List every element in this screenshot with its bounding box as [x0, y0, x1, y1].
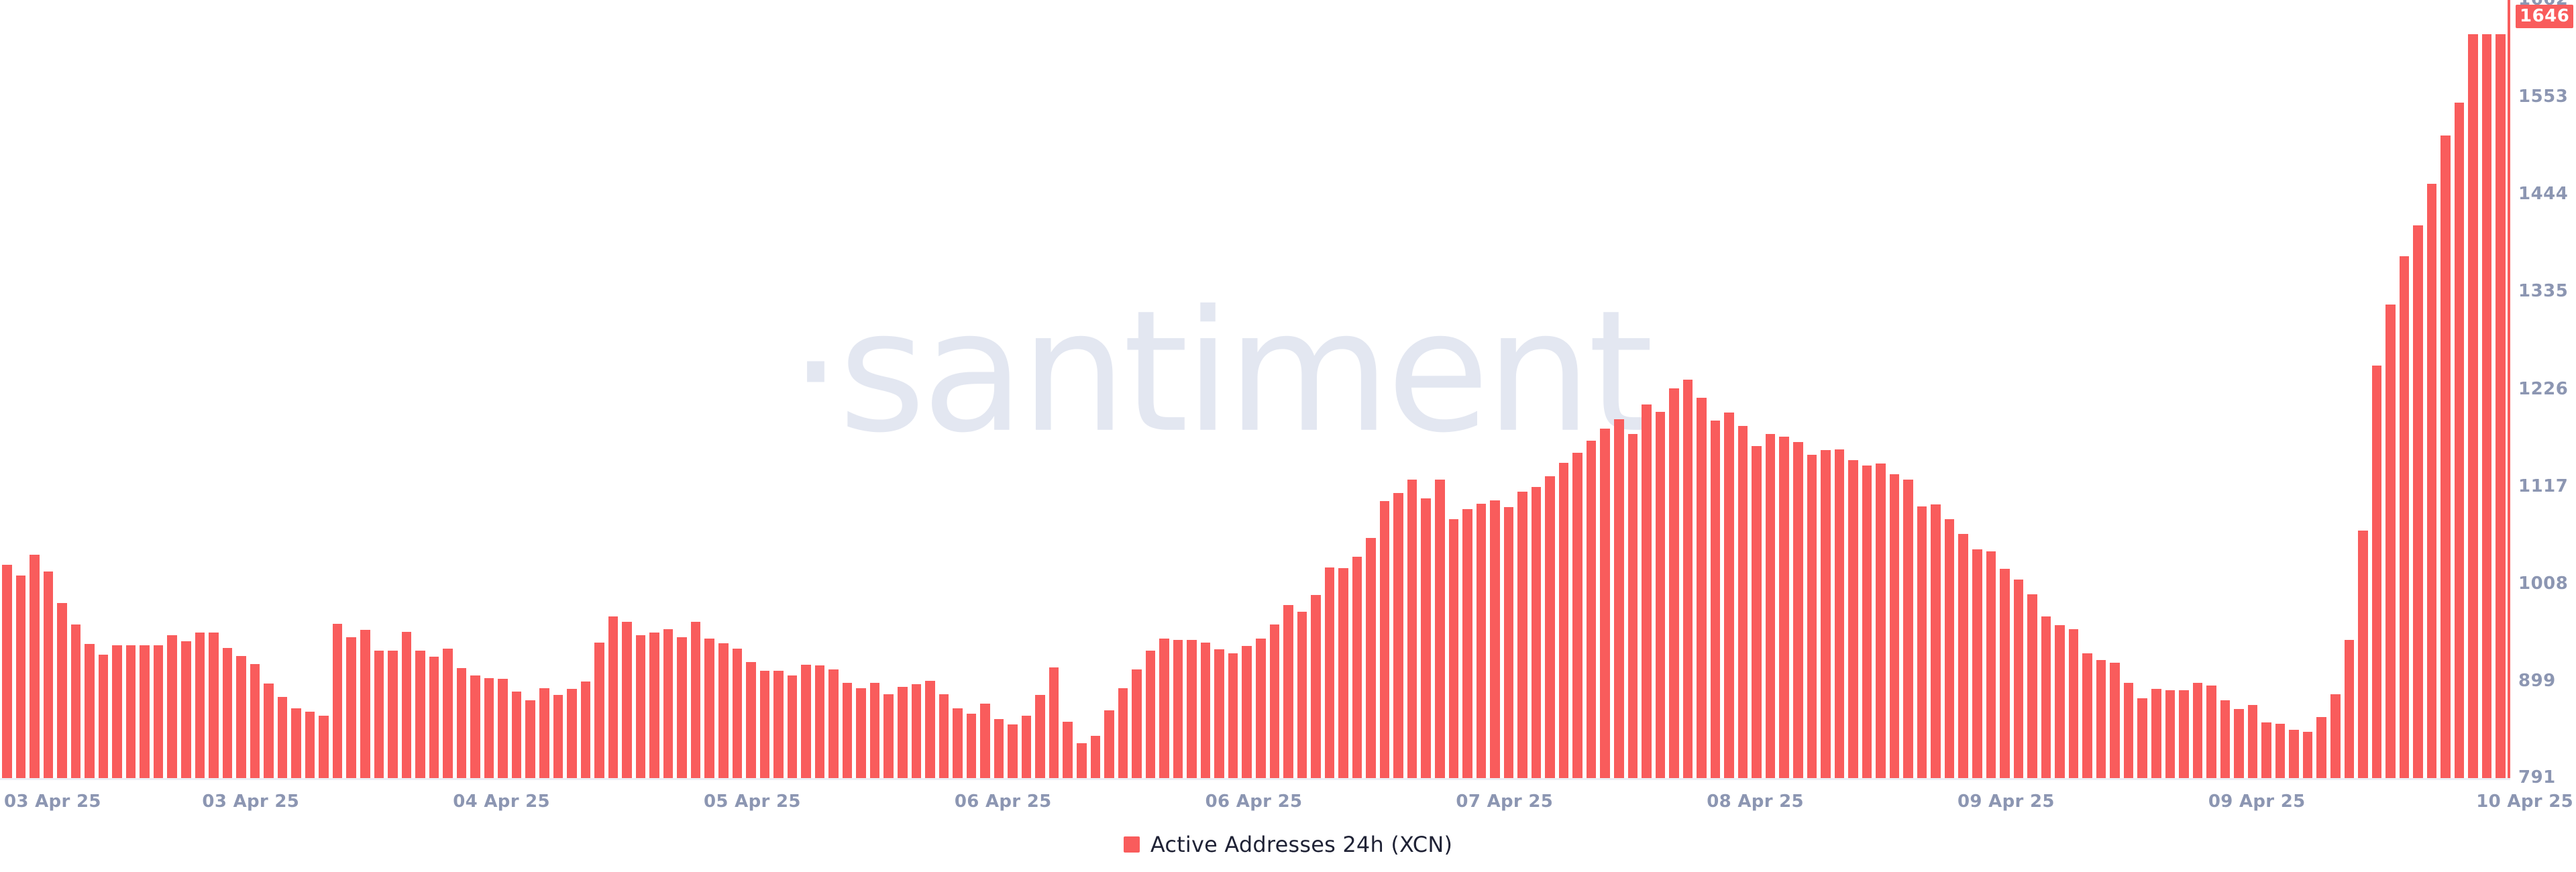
bar[interactable]	[1724, 413, 1734, 778]
bar-series-active-addresses	[0, 0, 2508, 778]
bar[interactable]	[1572, 453, 1582, 778]
bar[interactable]	[677, 637, 687, 778]
bar[interactable]	[1462, 509, 1472, 778]
bar[interactable]	[1352, 557, 1362, 778]
bar[interactable]	[1283, 605, 1293, 778]
bar[interactable]	[1449, 519, 1459, 778]
bar[interactable]	[1256, 639, 1266, 778]
x-axis-tick-label: 03 Apr 25	[202, 792, 299, 812]
bar[interactable]	[567, 689, 577, 778]
bar[interactable]	[1807, 455, 1817, 778]
bar[interactable]	[1711, 421, 1721, 778]
bar[interactable]	[1600, 429, 1610, 778]
bar[interactable]	[140, 645, 150, 778]
bar[interactable]	[1669, 388, 1679, 778]
current-value-badge: 1646	[2516, 5, 2573, 28]
bar[interactable]	[691, 622, 701, 778]
bar[interactable]	[470, 675, 480, 778]
bar[interactable]	[71, 624, 81, 778]
bar[interactable]	[1173, 640, 1183, 778]
bar[interactable]	[1890, 474, 1900, 778]
bar[interactable]	[1270, 624, 1280, 778]
bar[interactable]	[1821, 450, 1831, 778]
bar[interactable]	[1214, 649, 1224, 778]
bar[interactable]	[2372, 366, 2382, 778]
bar[interactable]	[2096, 660, 2106, 778]
bar[interactable]	[2000, 569, 2010, 778]
bar[interactable]	[1587, 441, 1597, 778]
bar[interactable]	[1311, 595, 1321, 778]
bar[interactable]	[525, 700, 535, 778]
bar[interactable]	[1986, 551, 1996, 778]
bar[interactable]	[773, 671, 784, 778]
bar[interactable]	[2151, 689, 2161, 778]
bar[interactable]	[2385, 305, 2396, 778]
bar[interactable]	[374, 651, 384, 778]
bar[interactable]	[636, 635, 646, 778]
bar[interactable]	[622, 622, 632, 778]
bar[interactable]	[1862, 466, 1872, 778]
x-axis-tick-label: 07 Apr 25	[1456, 792, 1553, 812]
chart-root: ·santiment 79189910081117122613351444155…	[0, 0, 2576, 872]
bar[interactable]	[1421, 498, 1431, 778]
bar[interactable]	[994, 719, 1004, 778]
bar[interactable]	[2027, 594, 2037, 778]
bar[interactable]	[2124, 683, 2134, 779]
bar[interactable]	[2069, 629, 2079, 778]
bar[interactable]	[980, 704, 990, 778]
bar[interactable]	[2316, 717, 2326, 778]
bar[interactable]	[154, 645, 164, 778]
bar[interactable]	[1931, 504, 1941, 778]
bar[interactable]	[828, 669, 839, 778]
bar[interactable]	[402, 632, 412, 778]
bar[interactable]	[1049, 667, 1059, 778]
bar[interactable]	[2082, 653, 2092, 778]
bar[interactable]	[2206, 686, 2216, 779]
bar[interactable]	[2055, 625, 2065, 778]
bar[interactable]	[594, 643, 604, 778]
x-axis-tick-labels: 03 Apr 2503 Apr 2504 Apr 2505 Apr 2506 A…	[0, 792, 2576, 818]
bar[interactable]	[195, 633, 205, 778]
x-axis-tick-label: 10 Apr 25	[2476, 792, 2573, 812]
bar[interactable]	[457, 668, 467, 778]
bar[interactable]	[883, 694, 894, 778]
bar[interactable]	[1628, 434, 1638, 778]
bar[interactable]	[305, 712, 315, 778]
bar[interactable]	[939, 694, 949, 778]
bar[interactable]	[2289, 730, 2299, 778]
bar[interactable]	[319, 716, 329, 778]
x-axis-line	[0, 778, 2510, 780]
bar[interactable]	[801, 665, 811, 778]
bar[interactable]	[718, 643, 729, 778]
bar[interactable]	[1917, 506, 1927, 778]
bar[interactable]	[2234, 709, 2244, 778]
bar[interactable]	[1504, 507, 1514, 778]
bar[interactable]	[498, 679, 508, 778]
bar[interactable]	[2248, 705, 2258, 778]
y-axis-tick-label: 791	[2518, 767, 2556, 787]
bar[interactable]	[209, 633, 219, 778]
bar[interactable]	[1972, 549, 1982, 778]
bar[interactable]	[539, 688, 549, 779]
bar[interactable]	[250, 664, 260, 778]
bar[interactable]	[1118, 688, 1128, 779]
bar[interactable]	[112, 645, 122, 778]
bar[interactable]	[429, 657, 439, 778]
bar[interactable]	[181, 641, 191, 778]
bar[interactable]	[1945, 519, 1955, 778]
bar[interactable]	[1242, 646, 1252, 778]
bar[interactable]	[663, 629, 674, 778]
bar[interactable]	[870, 683, 880, 779]
bar[interactable]	[2358, 531, 2368, 778]
bar[interactable]	[236, 656, 246, 778]
legend-color-swatch	[1124, 836, 1140, 853]
y-axis-line	[2508, 0, 2510, 778]
bar[interactable]	[1766, 434, 1776, 778]
bar[interactable]	[16, 576, 26, 778]
bar[interactable]	[360, 630, 370, 778]
bar[interactable]	[388, 651, 398, 778]
bar[interactable]	[1407, 480, 1417, 778]
bar[interactable]	[167, 635, 177, 778]
y-axis-tick-label: 899	[2518, 671, 2556, 691]
bar[interactable]	[1077, 743, 1087, 778]
bar[interactable]	[223, 648, 233, 778]
bar[interactable]	[2165, 690, 2176, 778]
bar[interactable]	[1490, 500, 1500, 778]
y-axis-tick-label: 1117	[2518, 476, 2568, 496]
bar[interactable]	[415, 651, 425, 778]
bar[interactable]	[1228, 653, 1238, 778]
bar[interactable]	[346, 637, 356, 778]
legend-label: Active Addresses 24h (XCN)	[1150, 832, 1452, 857]
bar[interactable]	[291, 708, 301, 778]
bar[interactable]	[1338, 568, 1348, 778]
x-axis-tick-label: 06 Apr 25	[955, 792, 1052, 812]
y-axis-tick-label: 1008	[2518, 574, 2568, 594]
bar[interactable]	[1697, 398, 1707, 778]
bar[interactable]	[898, 687, 908, 778]
bar[interactable]	[2, 565, 12, 778]
bar[interactable]	[2110, 663, 2120, 778]
bar[interactable]	[649, 633, 659, 778]
bar[interactable]	[1325, 567, 1335, 778]
bar[interactable]	[2440, 135, 2451, 778]
bar[interactable]	[1187, 640, 1197, 778]
bar[interactable]	[126, 645, 136, 778]
bar[interactable]	[1132, 669, 1142, 778]
y-axis-tick-label: 1226	[2518, 379, 2568, 399]
bar[interactable]	[2330, 694, 2341, 778]
bar[interactable]	[278, 697, 288, 778]
bar[interactable]	[1559, 463, 1569, 778]
bar[interactable]	[1008, 724, 1018, 778]
bar[interactable]	[953, 708, 963, 778]
bar[interactable]	[1903, 480, 1913, 778]
bar[interactable]	[99, 655, 109, 778]
x-axis-tick-label: 03 Apr 25	[4, 792, 101, 812]
x-axis-tick-label: 06 Apr 25	[1205, 792, 1303, 812]
bar[interactable]	[85, 644, 95, 778]
bar[interactable]	[1297, 612, 1307, 778]
bar[interactable]	[1091, 736, 1101, 778]
bar[interactable]	[44, 571, 54, 778]
bar[interactable]	[1683, 380, 1693, 778]
bar[interactable]	[2041, 616, 2051, 778]
bar[interactable]	[443, 649, 453, 778]
x-axis-tick-label: 09 Apr 25	[1957, 792, 2055, 812]
bar[interactable]	[57, 603, 67, 778]
bar[interactable]	[912, 684, 922, 778]
bar[interactable]	[925, 681, 935, 778]
bar[interactable]	[1201, 643, 1211, 778]
plot-area: ·santiment	[0, 0, 2508, 778]
bar[interactable]	[1835, 449, 1845, 778]
y-axis-tick-label: 1553	[2518, 87, 2568, 107]
bar[interactable]	[788, 675, 798, 778]
bar[interactable]	[1848, 460, 1858, 778]
bar[interactable]	[2014, 580, 2024, 778]
bar[interactable]	[1532, 487, 1542, 778]
chart-legend[interactable]: Active Addresses 24h (XCN)	[0, 832, 2576, 857]
bar[interactable]	[1380, 501, 1390, 778]
bar[interactable]	[333, 624, 343, 778]
bar[interactable]	[581, 682, 591, 778]
bar[interactable]	[843, 683, 853, 779]
bar[interactable]	[2482, 34, 2492, 778]
bar[interactable]	[1366, 538, 1376, 778]
bar[interactable]	[1656, 412, 1666, 778]
bar[interactable]	[1435, 480, 1445, 778]
bar[interactable]	[1477, 504, 1487, 778]
bar[interactable]	[1793, 442, 1803, 778]
bar[interactable]	[2455, 103, 2465, 778]
bar[interactable]	[1876, 464, 1886, 778]
bar[interactable]	[1642, 404, 1652, 778]
bar[interactable]	[2137, 698, 2147, 778]
y-axis-tick-label: 1444	[2518, 184, 2568, 204]
bar[interactable]	[1393, 493, 1403, 778]
bar[interactable]	[1752, 446, 1762, 778]
y-axis-tick-label: 1335	[2518, 281, 2568, 301]
bar[interactable]	[512, 692, 522, 778]
bar[interactable]	[1958, 534, 1968, 778]
bar[interactable]	[1517, 492, 1527, 779]
bar[interactable]	[1104, 710, 1114, 778]
bar[interactable]	[484, 678, 494, 778]
bar[interactable]	[760, 671, 770, 778]
bar[interactable]	[553, 695, 563, 778]
bar[interactable]	[608, 616, 619, 778]
bar[interactable]	[2261, 722, 2271, 778]
bar[interactable]	[2413, 225, 2423, 778]
bar[interactable]	[1146, 651, 1156, 778]
bar[interactable]	[2275, 724, 2286, 778]
bar[interactable]	[1738, 426, 1748, 778]
bar[interactable]	[2468, 34, 2478, 778]
bar[interactable]	[1063, 722, 1073, 778]
bar[interactable]	[815, 665, 825, 778]
bar[interactable]	[2400, 256, 2410, 778]
y-axis-tick-labels: 79189910081117122613351444155316621646	[2518, 0, 2576, 792]
x-axis-tick-label: 04 Apr 25	[453, 792, 550, 812]
bar[interactable]	[2345, 640, 2355, 778]
bar[interactable]	[264, 684, 274, 778]
bar[interactable]	[1022, 716, 1032, 778]
bar[interactable]	[1159, 639, 1169, 778]
bar[interactable]	[2303, 732, 2313, 778]
bar[interactable]	[2495, 34, 2506, 778]
bar[interactable]	[30, 555, 40, 778]
bar[interactable]	[2179, 690, 2189, 778]
bar[interactable]	[733, 649, 743, 778]
bar[interactable]	[2193, 683, 2203, 779]
bar[interactable]	[1545, 476, 1555, 778]
bar[interactable]	[2427, 184, 2437, 778]
bar[interactable]	[967, 714, 977, 778]
x-axis-tick-label: 08 Apr 25	[1707, 792, 1804, 812]
x-axis-tick-label: 05 Apr 25	[704, 792, 801, 812]
x-axis-tick-label: 09 Apr 25	[2208, 792, 2306, 812]
bar[interactable]	[2220, 700, 2231, 778]
bar[interactable]	[704, 639, 714, 778]
bar[interactable]	[746, 662, 756, 778]
bar[interactable]	[856, 688, 866, 779]
bar[interactable]	[1035, 695, 1045, 778]
bar[interactable]	[1779, 437, 1789, 778]
bar[interactable]	[1614, 419, 1624, 778]
